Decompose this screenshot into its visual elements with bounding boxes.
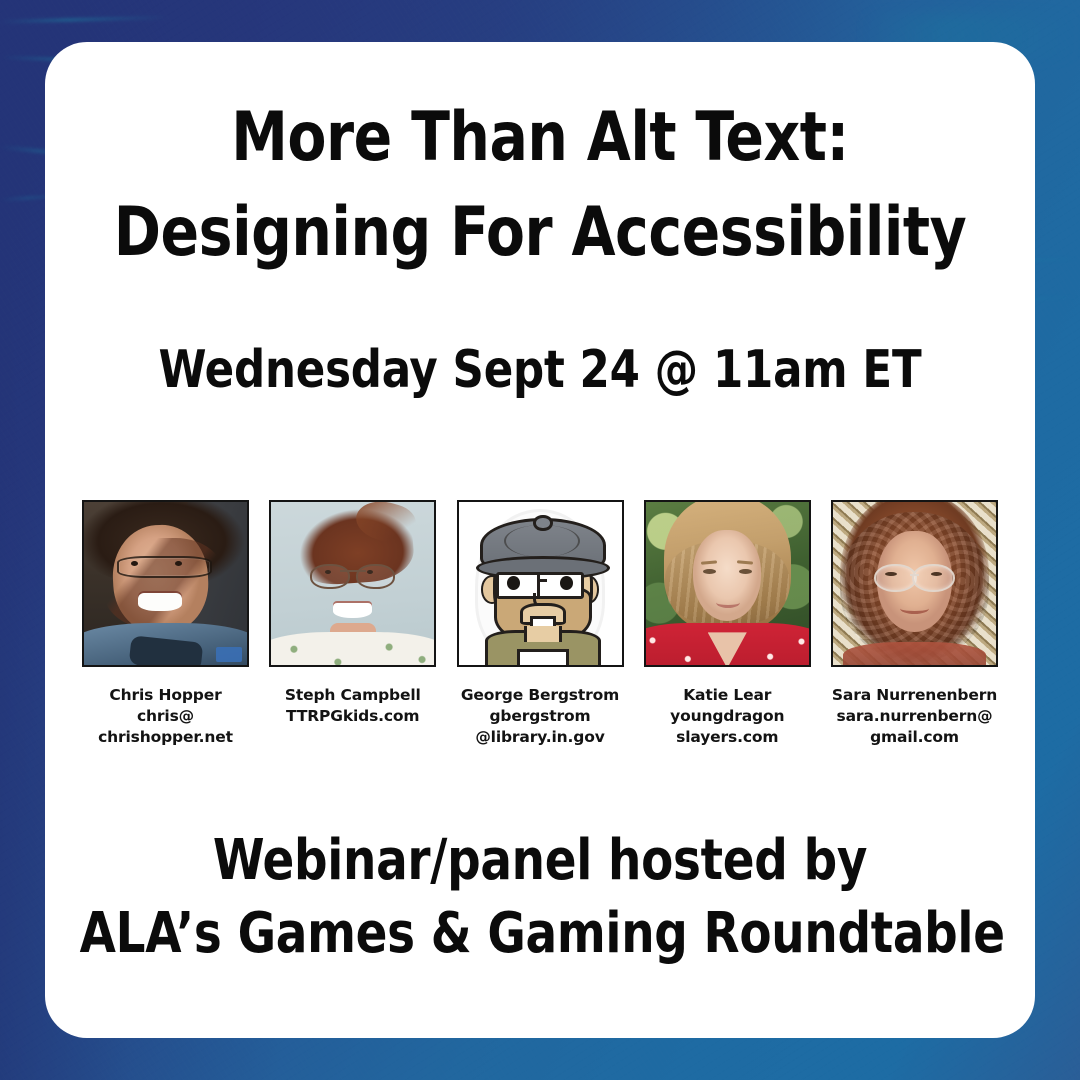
speaker-photo-frame [82,500,249,667]
glasses-bridge [910,574,920,577]
speaker-contact-line-1: chris@ [82,706,249,727]
smile-shape [333,603,372,618]
avatar-george-bergstrom-image [459,502,622,665]
headshot-katie-lear-image [646,502,809,665]
speaker-caption: Chris Hopper chris@ chrishopper.net [82,685,249,748]
speaker-name: Sara Nurrenenbern [831,685,998,706]
speaker-caption: Steph Campbell TTRPGkids.com [269,685,436,727]
glasses-icon [117,556,212,578]
speaker-photo-frame [644,500,811,667]
speaker-card-katie-lear: Katie Lear youngdragon slayers.com [644,500,811,748]
page-title: More Than Alt Text: Designing For Access… [80,90,1001,280]
eye-right [739,569,752,574]
speaker-photo-frame [831,500,998,667]
speaker-caption: George Bergstrom gbergstrom @library.in.… [457,685,624,748]
speaker-card-george-bergstrom: George Bergstrom gbergstrom @library.in.… [457,500,624,748]
headshot-sara-nurrenenbern-image [833,502,996,665]
lens-right [356,564,396,589]
speaker-contact-line-2: chrishopper.net [82,727,249,748]
eye-right [175,561,182,566]
speaker-contact-line-2: @library.in.gov [457,727,624,748]
speaker-name: George Bergstrom [457,685,624,706]
speaker-caption: Katie Lear youngdragon slayers.com [644,685,811,748]
neck-shape [524,626,563,642]
title-line-2: Designing For Accessibility [80,185,1001,280]
light-dapple [104,538,225,629]
white-content-card: More Than Alt Text: Designing For Access… [45,42,1035,1038]
eye-right [560,576,573,590]
shirt-shape [843,642,986,667]
eye-left [131,561,138,566]
lens-left [310,564,350,589]
shirt-pocket [517,649,569,667]
speaker-card-chris-hopper: Chris Hopper chris@ chrishopper.net [82,500,249,748]
glasses-bridge [340,570,366,572]
host-credit: Webinar/panel hosted by ALA’s Games & Ga… [80,824,1001,970]
headshot-chris-hopper-image [84,502,247,665]
speaker-caption: Sara Nurrenenbern sara.nurrenbern@ gmail… [831,685,998,748]
title-line-1: More Than Alt Text: [80,90,1001,185]
webinar-promo-poster: More Than Alt Text: Designing For Access… [0,0,1080,1080]
speaker-contact-line-1: TTRPGkids.com [269,706,436,727]
speaker-contact-line-1: gbergstrom [457,706,624,727]
speaker-card-steph-campbell: Steph Campbell TTRPGkids.com [269,500,436,727]
glasses-bridge [537,579,547,582]
event-datetime: Wednesday Sept 24 @ 11am ET [80,339,1001,401]
eye-left [703,569,716,574]
shirt-shape [269,632,436,667]
host-line-1: Webinar/panel hosted by [80,824,1001,897]
speaker-contact-line-2: slayers.com [644,727,811,748]
headshot-steph-campbell-image [271,502,434,665]
speaker-name: Katie Lear [644,685,811,706]
eye-left [885,572,896,576]
speaker-contact-line-1: youngdragon [644,706,811,727]
lens-left [874,564,917,592]
glasses-icon [310,564,395,585]
speaker-photo-frame [457,500,624,667]
speaker-name: Chris Hopper [82,685,249,706]
speaker-photo-frame [269,500,436,667]
badge-shape [216,647,242,662]
speakers-row: Chris Hopper chris@ chrishopper.net [82,500,998,748]
speaker-contact-line-1: sara.nurrenbern@ [831,706,998,727]
cap-button [533,515,552,531]
speaker-contact-line-2: gmail.com [831,727,998,748]
speaker-card-sara-nurrenenbern: Sara Nurrenenbern sara.nurrenbern@ gmail… [831,500,998,748]
speaker-name: Steph Campbell [269,685,436,706]
host-line-2: ALA’s Games & Gaming Roundtable [80,897,1001,970]
smile-shape [138,593,182,611]
smile-shape [716,597,740,608]
